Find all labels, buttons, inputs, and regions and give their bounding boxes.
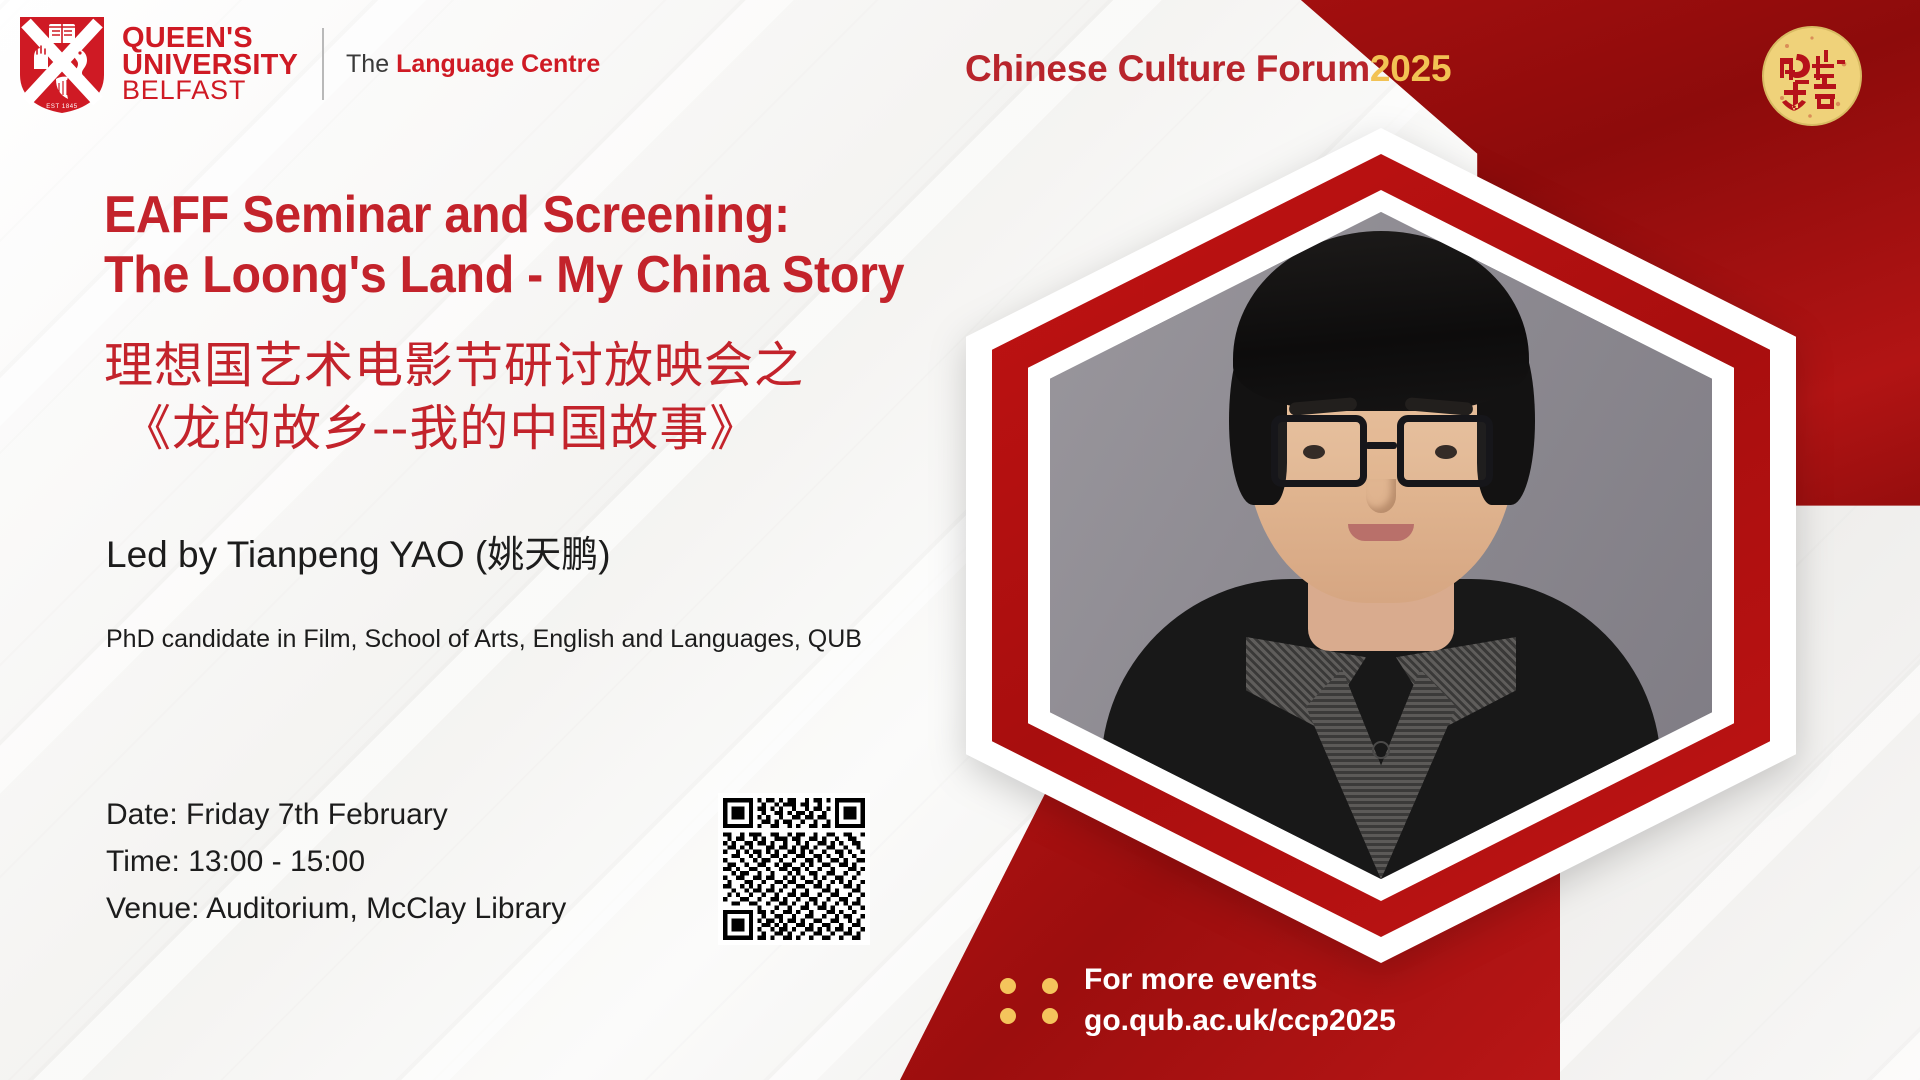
- chinese-title-line-1: 理想国艺术电影节研讨放映会之: [104, 337, 804, 394]
- event-date: Date: Friday 7th February: [106, 792, 566, 839]
- logo-line-2: UNIVERSITY: [122, 52, 298, 79]
- event-details: Date: Friday 7th February Time: 13:00 - …: [106, 792, 566, 932]
- logo-line-3: BELFAST: [122, 78, 298, 103]
- partner-prefix: The: [346, 50, 396, 78]
- cta-line-2[interactable]: go.qub.ac.uk/ccp2025: [1084, 1001, 1396, 1042]
- language-centre-wordmark: The Language Centre: [346, 50, 600, 79]
- cta-text-block: For more events go.qub.ac.uk/ccp2025: [1084, 960, 1396, 1042]
- partner-name: Language Centre: [396, 50, 600, 78]
- cta-line-1: For more events: [1084, 960, 1396, 1001]
- poster-canvas: EST 1845 QUEEN'S UNIVERSITY BELFAST The …: [0, 0, 1920, 1080]
- speaker-led-by: Led by Tianpeng YAO (姚天鹏): [106, 524, 611, 578]
- logo-divider: [322, 28, 324, 100]
- qub-crest-icon: EST 1845: [16, 13, 108, 115]
- event-time: Time: 13:00 - 15:00: [106, 839, 566, 886]
- portrait-hexagon: [966, 128, 1796, 963]
- svg-text:EST 1845: EST 1845: [46, 104, 77, 110]
- forum-title-text: Chinese Culture Forum: [965, 48, 1370, 89]
- more-events-cta[interactable]: For more events go.qub.ac.uk/ccp2025: [1000, 960, 1396, 1042]
- chinese-title-line-2: 《龙的故乡--我的中国故事》: [104, 398, 934, 461]
- speaker-affiliation: PhD candidate in Film, School of Arts, E…: [106, 625, 862, 654]
- forum-title-year: 2025: [1370, 48, 1452, 89]
- headline-line-1: EAFF Seminar and Screening:: [104, 185, 848, 245]
- headline-line-2: The Loong's Land - My China Story: [104, 245, 848, 305]
- qr-code[interactable]: [718, 793, 870, 945]
- qub-wordmark: QUEEN'S UNIVERSITY BELFAST: [122, 25, 298, 103]
- event-chinese-title: 理想国艺术电影节研讨放映会之 《龙的故乡--我的中国故事》: [104, 335, 934, 460]
- event-venue: Venue: Auditorium, McClay Library: [106, 886, 566, 933]
- logo-line-1: QUEEN'S: [122, 25, 298, 52]
- event-headline: EAFF Seminar and Screening: The Loong's …: [104, 185, 848, 306]
- year-of-the-snake-seal-icon: [1756, 20, 1868, 132]
- forum-title: Chinese Culture Forum2025: [965, 48, 1451, 90]
- cta-dots-icon: [1000, 978, 1058, 1024]
- qub-logo: EST 1845 QUEEN'S UNIVERSITY BELFAST The …: [16, 14, 600, 114]
